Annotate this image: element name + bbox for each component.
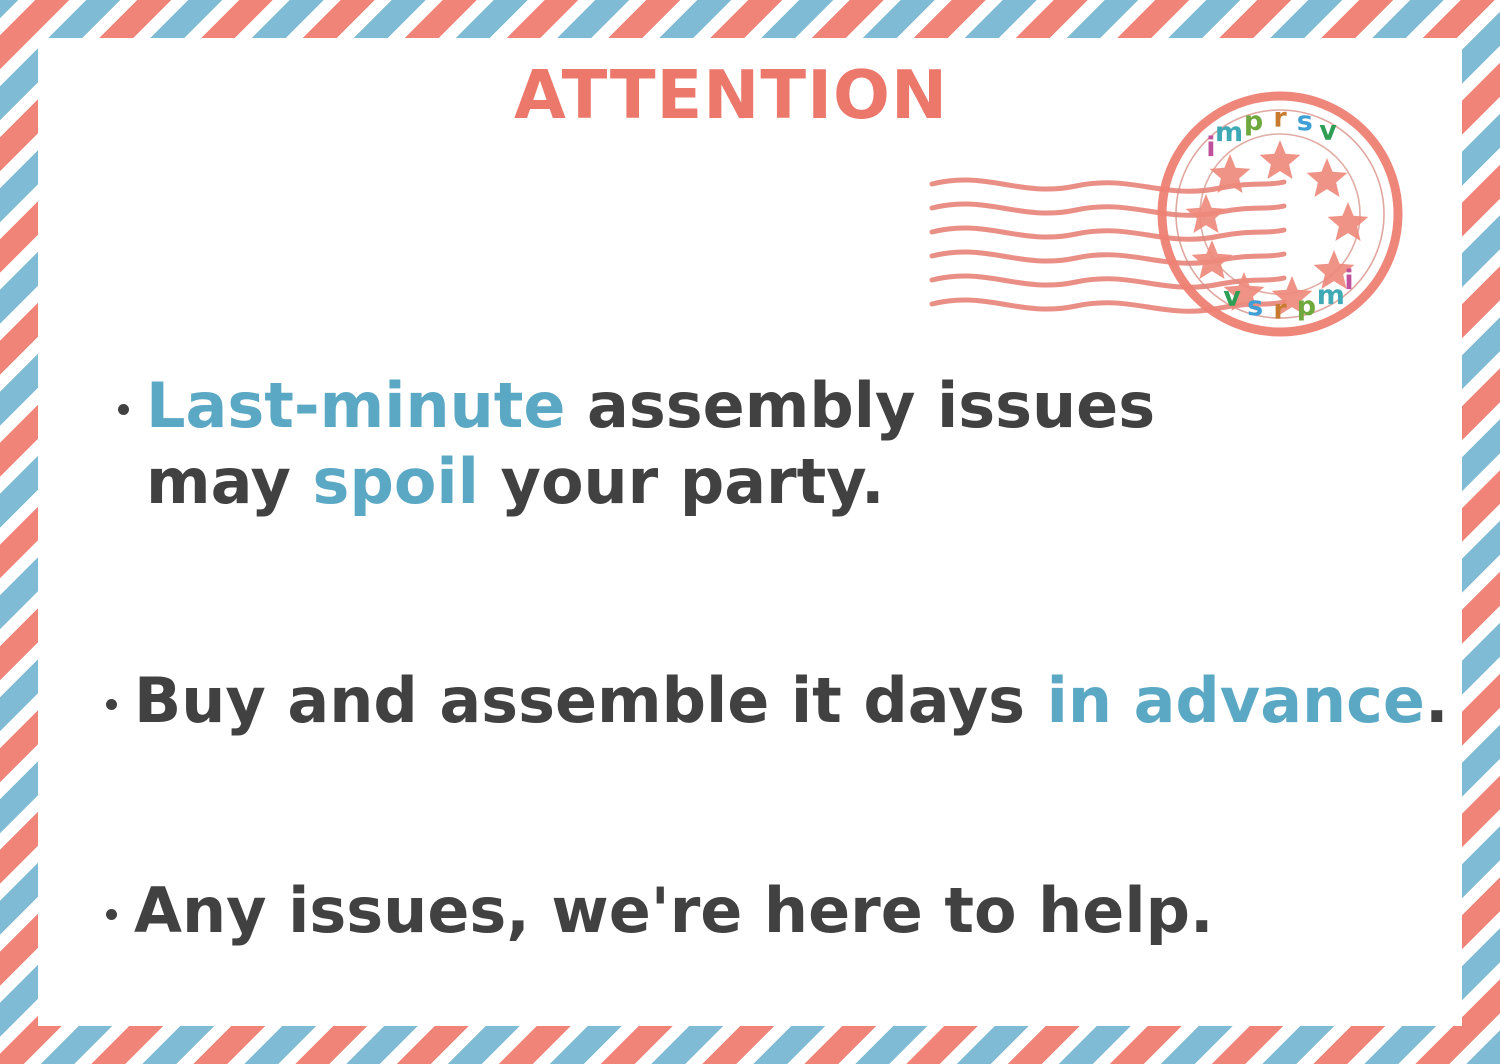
bullet-2-text: Buy and assemble it days in advance. [134, 663, 1449, 739]
bullet-2-line-1: Buy and assemble it days in advance. [134, 663, 1449, 739]
bullet-dot-icon [118, 404, 129, 415]
bullet-1-line-2: may spoil your party. [146, 444, 1155, 520]
plain-phrase: your party. [479, 445, 885, 518]
list-item: Any issues, we're here to help. [106, 873, 1214, 949]
bullet-1-text: Last-minute assembly issues may spoil yo… [146, 368, 1155, 519]
bullet-list: Last-minute assembly issues may spoil yo… [38, 38, 1462, 1026]
bullet-dot-icon [106, 699, 117, 710]
bullet-3-line-1: Any issues, we're here to help. [134, 873, 1214, 949]
card-content: ATTENTION [38, 38, 1462, 1026]
plain-phrase: Any issues, we're here to help. [134, 874, 1214, 947]
plain-phrase: . [1425, 664, 1449, 737]
bullet-1-line-1: Last-minute assembly issues [146, 368, 1155, 444]
airmail-notice-card: ATTENTION [0, 0, 1500, 1064]
accent-phrase: Last-minute [146, 369, 565, 442]
plain-phrase: assembly issues [565, 369, 1155, 442]
bullet-dot-icon [106, 909, 117, 920]
plain-phrase: may [146, 445, 313, 518]
accent-phrase: spoil [313, 445, 479, 518]
list-item: Buy and assemble it days in advance. [106, 663, 1449, 739]
list-item: Last-minute assembly issues may spoil yo… [118, 368, 1155, 519]
plain-phrase: Buy and assemble it days [134, 664, 1047, 737]
accent-phrase: in advance [1047, 664, 1425, 737]
bullet-3-text: Any issues, we're here to help. [134, 873, 1214, 949]
